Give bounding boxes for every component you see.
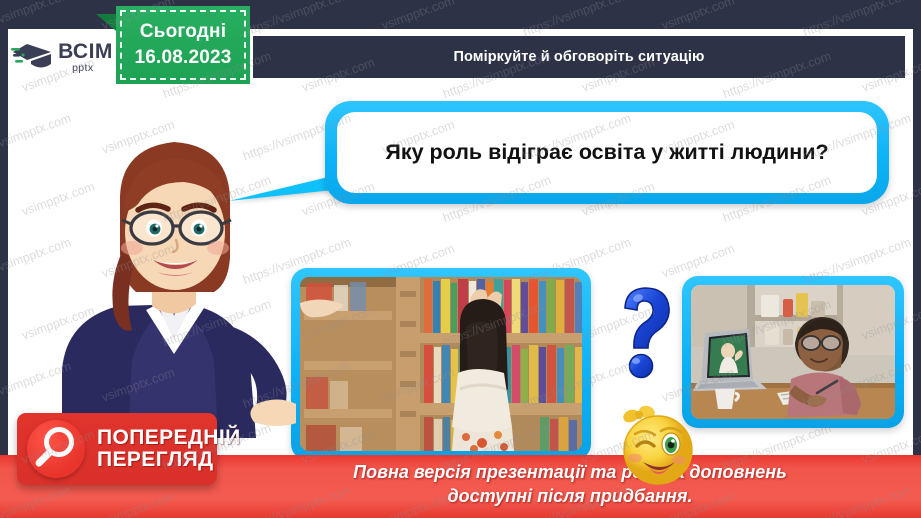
logo-title: ВСІМ <box>58 41 113 62</box>
speech-bubble-text: Яку роль відіграє освіта у житті людини? <box>385 138 828 166</box>
bottom-banner-line-2: доступні після придбання. <box>250 485 890 509</box>
preview-badge-line-1: ПОПЕРЕДНІЙ <box>97 427 241 449</box>
question-mark-icon <box>605 282 685 384</box>
speech-bubble: Яку роль відіграє освіта у житті людини? <box>325 101 889 204</box>
winking-emoji-icon <box>613 404 703 488</box>
logo: ВСІМ pptx <box>8 29 116 83</box>
library-photo <box>300 277 582 451</box>
graduation-cap-icon <box>11 40 55 74</box>
bottom-banner-text: Повна версія презентації та решта доповн… <box>250 461 890 509</box>
date-badge: Сьогодні 16.08.2023 <box>116 6 250 84</box>
teacher-character <box>28 108 296 438</box>
preview-badge-line-2: ПЕРЕГЛЯД <box>97 449 241 471</box>
photo-card-library[interactable] <box>291 268 591 460</box>
slide-root: Яку роль відіграє освіта у житті людини? <box>0 0 921 518</box>
speech-bubble-body: Яку роль відіграє освіта у житті людини? <box>337 112 877 193</box>
date-badge-label: Сьогодні <box>140 21 226 43</box>
logo-subtitle: pptx <box>72 63 113 74</box>
photo-card-online-lesson[interactable] <box>682 276 904 428</box>
date-badge-value: 16.08.2023 <box>134 47 231 69</box>
magnifier-icon <box>27 420 85 478</box>
online-lesson-photo <box>691 285 895 419</box>
preview-badge[interactable]: ПОПЕРЕДНІЙ ПЕРЕГЛЯД <box>17 413 217 485</box>
header-title: Поміркуйте й обговоріть ситуацію <box>453 49 704 65</box>
bottom-banner-line-1: Повна версія презентації та решта доповн… <box>250 461 890 485</box>
header-bar: Поміркуйте й обговоріть ситуацію <box>253 36 905 78</box>
